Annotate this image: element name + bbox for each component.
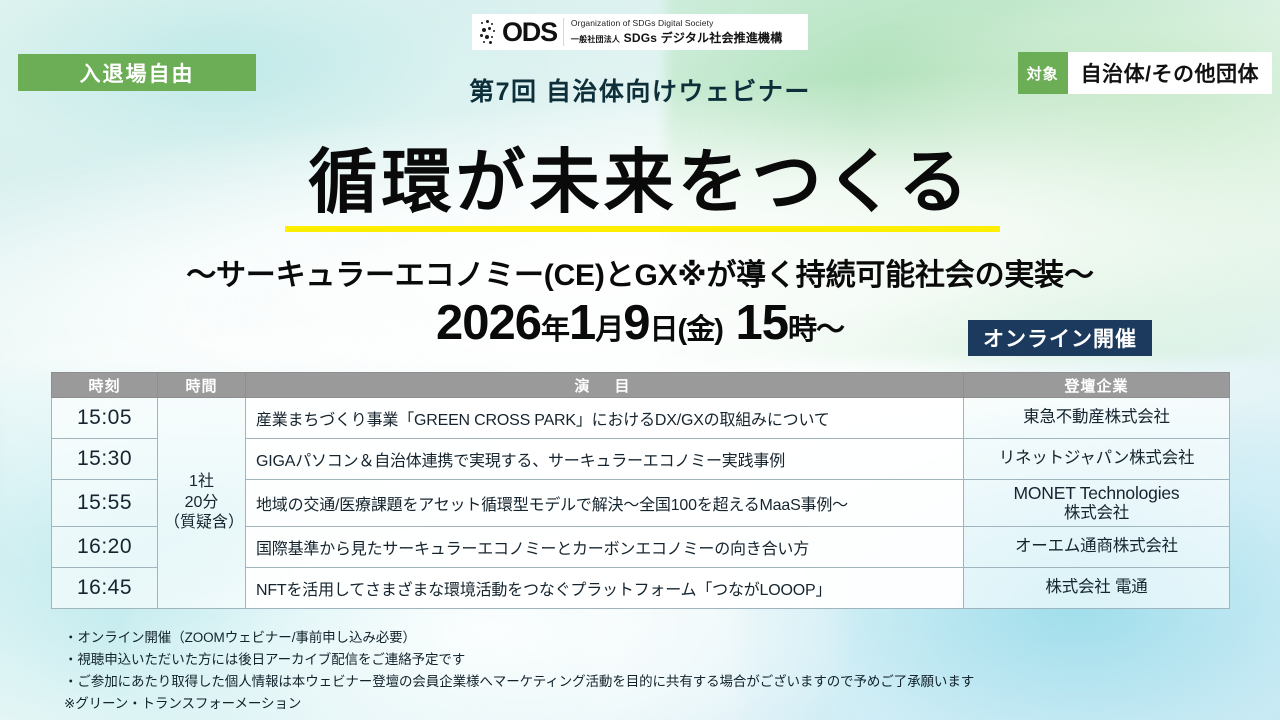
duration-line-3: （質疑含） bbox=[164, 513, 239, 533]
row-topic: NFTを活用してさまざまな環境活動をつなぐプラットフォーム「つながLOOOP」 bbox=[246, 568, 964, 609]
event-month: 1 bbox=[569, 296, 595, 350]
row-topic: 地域の交通/医療課題をアセット循環型モデルで解決～全国100を超えるMaaS事例… bbox=[246, 480, 964, 527]
event-month-unit: 月 bbox=[595, 314, 623, 346]
row-topic: 国際基準から見たサーキュラーエコノミーとカーボンエコノミーの向き合い方 bbox=[246, 527, 964, 568]
row-company: リネットジャパン株式会社 bbox=[964, 439, 1230, 480]
event-day: 9 bbox=[623, 296, 649, 350]
row-company: オーエム通商株式会社 bbox=[964, 527, 1230, 568]
online-event-badge: オンライン開催 bbox=[968, 320, 1152, 356]
event-year: 2026 bbox=[436, 296, 541, 350]
row-time: 15:30 bbox=[52, 439, 158, 480]
ods-tagline-ja: 一般社団法人 SDGs デジタル社会推進機構 bbox=[571, 29, 783, 46]
ods-tagline-en: Organization of SDGs Digital Society bbox=[571, 18, 783, 28]
footnotes: ・オンライン開催（ZOOMウェビナー/事前申し込み必要） ・視聴申込いただいた方… bbox=[64, 627, 974, 714]
webinar-series-title: 第7回 自治体向けウェビナー bbox=[0, 72, 1280, 108]
event-start-hour-unit: 時～ bbox=[788, 314, 844, 346]
footnote-line: ・ご参加にあたり取得した個人情報は本ウェビナー登壇の会員企業様へマーケティング活… bbox=[64, 671, 974, 693]
row-company: MONET Technologies 株式会社 bbox=[964, 480, 1230, 527]
ods-wordmark: ODS bbox=[502, 19, 557, 46]
event-year-unit: 年 bbox=[541, 314, 569, 346]
column-header-company: 登壇企業 bbox=[964, 373, 1230, 398]
event-weekday: (金) bbox=[678, 314, 723, 346]
footnote-line: ・視聴申込いただいた方には後日アーカイブ配信をご連絡予定です bbox=[64, 649, 974, 671]
duration-line-1: 1社 bbox=[164, 472, 239, 492]
column-header-topic: 演 目 bbox=[246, 373, 964, 398]
row-company: 株式会社 電通 bbox=[964, 568, 1230, 609]
row-topic: GIGAパソコン＆自治体連携で実現する、サーキュラーエコノミー実践事例 bbox=[246, 439, 964, 480]
footnote-line: ・オンライン開催（ZOOMウェビナー/事前申し込み必要） bbox=[64, 627, 974, 649]
row-time: 16:20 bbox=[52, 527, 158, 568]
row-time: 15:05 bbox=[52, 398, 158, 439]
event-start-hour: 15 bbox=[736, 296, 789, 350]
duration-line-2: 20分 bbox=[164, 493, 239, 513]
ods-corporate-prefix: 一般社団法人 bbox=[571, 35, 620, 44]
event-day-unit: 日 bbox=[650, 314, 678, 346]
duration-cell: 1社 20分 （質疑含） bbox=[158, 398, 246, 609]
subtitle-tagline: ～サーキュラーエコノミー(CE)とGX※が導く持続可能社会の実装～ bbox=[0, 250, 1280, 294]
column-header-time: 時刻 bbox=[52, 373, 158, 398]
ods-particles-icon bbox=[480, 19, 496, 45]
title-underline bbox=[285, 226, 1000, 232]
ods-corporate-name: SDGs デジタル社会推進機構 bbox=[624, 31, 783, 45]
row-company-line-2: 株式会社 bbox=[970, 504, 1223, 524]
footnote-line: ※グリーン・トランスフォーメーション bbox=[64, 693, 974, 715]
row-time: 15:55 bbox=[52, 480, 158, 527]
row-time: 16:45 bbox=[52, 568, 158, 609]
row-company: 東急不動産株式会社 bbox=[964, 398, 1230, 439]
column-header-duration: 時間 bbox=[158, 373, 246, 398]
table-header-row: 時刻 時間 演 目 登壇企業 bbox=[52, 373, 1230, 398]
ods-logo: ODS Organization of SDGs Digital Society… bbox=[472, 14, 808, 50]
table-row: 15:05 1社 20分 （質疑含） 産業まちづくり事業「GREEN CROSS… bbox=[52, 398, 1230, 439]
row-company-line-1: MONET Technologies bbox=[970, 483, 1223, 504]
schedule-table: 時刻 時間 演 目 登壇企業 15:05 1社 20分 （質疑含） 産業まちづく… bbox=[51, 372, 1230, 609]
page-title: 循環が未来をつくる bbox=[0, 147, 1280, 217]
row-topic: 産業まちづくり事業「GREEN CROSS PARK」におけるDX/GXの取組み… bbox=[246, 398, 964, 439]
